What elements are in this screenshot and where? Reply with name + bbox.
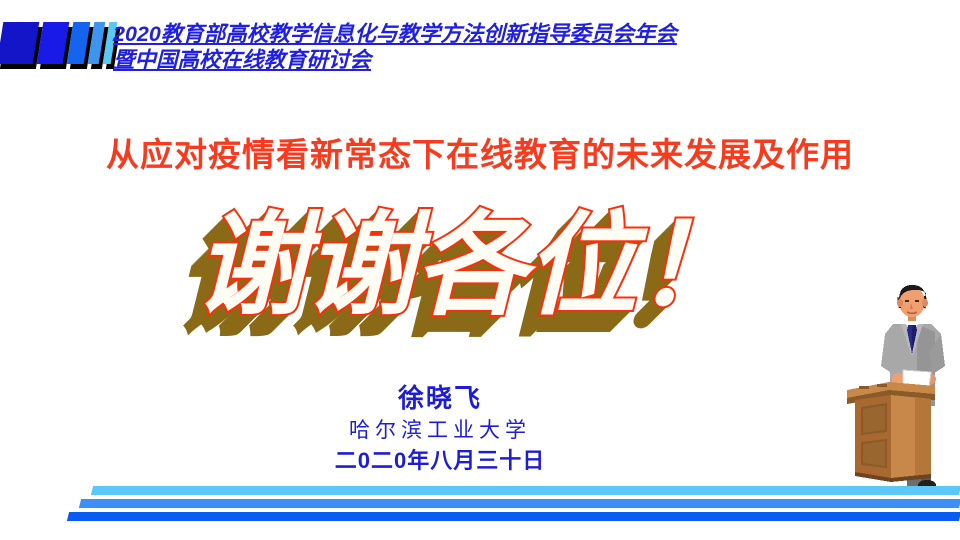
page-title: 从应对疫情看新常态下在线教育的未来发展及作用 (0, 128, 960, 176)
bottom-stripes (0, 486, 960, 534)
presenter-date: 二0二0年八月三十日 (0, 446, 880, 476)
logo-bar-2 (37, 22, 70, 64)
conference-logo (0, 22, 110, 72)
bottom-stripe-2 (79, 499, 960, 508)
conference-header: 2020教育部高校教学信息化与教学方法创新指导委员会年会 暨中国高校在线教育研讨… (113, 21, 893, 73)
logo-bar-3 (67, 22, 91, 64)
bottom-stripe-3 (67, 512, 960, 521)
wordart-face-layer: 谢谢各位！ (120, 196, 820, 336)
conference-header-line2: 暨中国高校在线教育研讨会 (113, 47, 893, 73)
bottom-stripe-1 (91, 486, 960, 495)
speaker-at-podium-clipart (845, 282, 960, 490)
slide-canvas: 2020教育部高校教学信息化与教学方法创新指导委员会年会 暨中国高校在线教育研讨… (0, 0, 960, 540)
presenter-name: 徐晓飞 (0, 382, 880, 414)
presenter-block: 徐晓飞 哈尔滨工业大学 二0二0年八月三十日 (0, 382, 880, 476)
logo-bar-1 (0, 22, 39, 64)
wordart-thank-you: 谢谢各位！ 谢谢各位！ (120, 196, 820, 361)
conference-header-line1: 2020教育部高校教学信息化与教学方法创新指导委员会年会 (113, 21, 893, 47)
presenter-affiliation: 哈尔滨工业大学 (0, 414, 880, 446)
